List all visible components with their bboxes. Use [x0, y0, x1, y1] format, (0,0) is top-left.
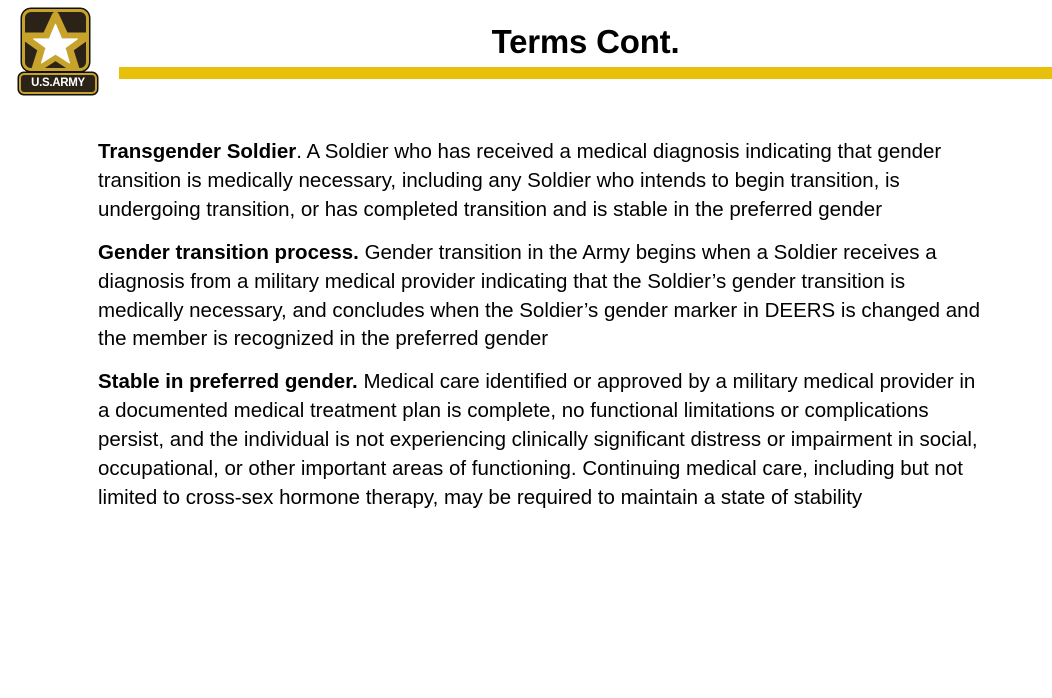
- definition-term: Transgender Soldier: [98, 140, 296, 163]
- us-army-logo: U.S.ARMY: [19, 9, 97, 96]
- definition-paragraph: Stable in preferred gender. Medical care…: [98, 368, 988, 513]
- slide-header: U.S.ARMY Terms Cont.: [0, 0, 1052, 100]
- page-title: Terms Cont.: [119, 24, 1052, 60]
- slide-body: Transgender Soldier. A Soldier who has r…: [98, 138, 988, 513]
- definition-paragraph: Transgender Soldier. A Soldier who has r…: [98, 138, 988, 225]
- army-wordmark-banner: U.S.ARMY: [19, 73, 97, 94]
- army-star-badge: [22, 9, 89, 71]
- definition-term: Gender transition process.: [98, 241, 359, 264]
- title-underline-rule: [119, 67, 1052, 79]
- army-wordmark-text: U.S.ARMY: [31, 78, 85, 90]
- army-star-icon: [25, 12, 86, 68]
- definition-paragraph: Gender transition process. Gender transi…: [98, 239, 988, 355]
- definition-term: Stable in preferred gender.: [98, 370, 358, 393]
